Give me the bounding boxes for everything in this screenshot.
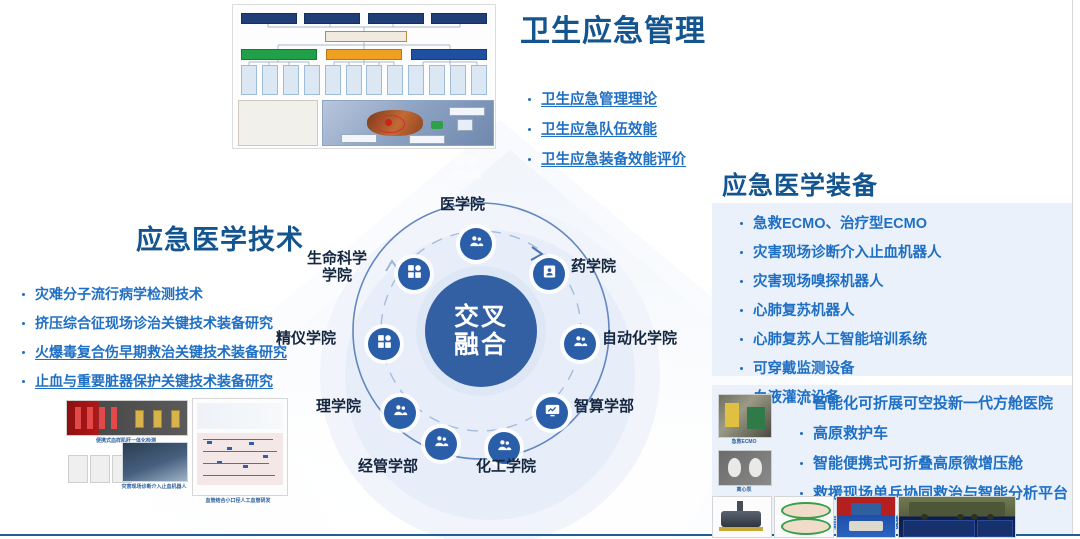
hemostasis-robot-image — [122, 442, 188, 482]
people-icon — [468, 233, 485, 255]
list-item[interactable]: 心肺复苏机器人 — [736, 299, 942, 320]
orgchart-leaf-row — [241, 65, 487, 95]
people-icon — [433, 433, 450, 455]
field-equipment-image — [712, 496, 772, 538]
caption-ecmo: 急救ECMO — [714, 438, 774, 445]
artificial-vessel-figure-image — [192, 398, 288, 496]
list-item[interactable]: 灾害现场诊断介入止血机器人 — [736, 241, 942, 262]
faculty-node-3[interactable] — [564, 328, 596, 360]
faculty-label-8: 精仪学院 — [276, 330, 336, 347]
list-item[interactable]: 智能便携式可折叠高原微增压舱 — [796, 452, 1068, 473]
portable-case-image — [836, 496, 896, 538]
emergency-technology-bullet-list: 灾难分子流行病学检测技术 挤压综合征现场诊治关键技术装备研究 火爆毒复合伤早期救… — [18, 284, 287, 400]
faculty-label-5: 化工学院 — [476, 458, 536, 475]
monitor-icon — [544, 402, 561, 424]
list-item[interactable]: 急救ECMO、治疗型ECMO — [736, 212, 942, 233]
certificate-document-image — [238, 100, 318, 146]
right-edge-divider — [1072, 0, 1073, 534]
faculty-node-6[interactable] — [425, 428, 457, 460]
centrifugal-pump-image — [718, 450, 772, 486]
thumbnail-mini-1 — [68, 455, 88, 483]
list-item[interactable]: 卫生应急装备效能评价 — [524, 148, 686, 169]
cpr-training-manikin-image — [774, 496, 834, 538]
section-title-health-emergency-management: 卫生应急管理 — [520, 6, 706, 50]
mobile-hospital-vehicle-image — [898, 496, 1016, 538]
ecmo-device-image — [718, 394, 772, 438]
people-icon — [392, 402, 409, 424]
section-title-emergency-medical-technology: 应急医学技术 — [136, 218, 304, 257]
list-item[interactable]: 卫生应急管理理论 — [524, 88, 686, 109]
list-item[interactable]: 火爆毒复合伤早期救治关键技术装备研究 — [18, 342, 287, 362]
orgchart-module-row — [241, 49, 487, 60]
faculty-node-1[interactable] — [460, 228, 492, 260]
people-icon — [496, 437, 513, 459]
faculty-node-9[interactable] — [398, 258, 430, 290]
faculty-label-6: 经管学部 — [358, 458, 418, 475]
faculty-label-3: 自动化学院 — [602, 330, 677, 347]
list-item[interactable]: 可穿戴监测设备 — [736, 357, 942, 378]
list-item[interactable]: 心肺复苏人工智能培训系统 — [736, 328, 942, 349]
faculty-label-4: 智算学部 — [574, 398, 634, 415]
health-emergency-bullet-list: 卫生应急管理理论 卫生应急队伍效能 卫生应急装备效能评价 — [524, 88, 686, 178]
list-item[interactable]: 止血与重要脏器保护关键技术装备研究 — [18, 371, 287, 391]
list-item[interactable]: 灾难分子流行病学检测技术 — [18, 284, 287, 304]
faculty-label-1: 医学院 — [440, 196, 485, 213]
faculty-node-8[interactable] — [368, 328, 400, 360]
people-icon — [572, 333, 589, 355]
portable-blood-detection-image — [66, 400, 188, 436]
core-line-1: 交叉 — [454, 303, 508, 331]
core-circle-cross-integration: 交叉 融合 — [425, 275, 537, 387]
faculty-label-9: 生命科学学院 — [307, 250, 367, 285]
caption-artificial-vessel: 血管结合小口径人工血管研发 — [190, 497, 286, 504]
section-title-emergency-medical-equipment: 应急医学装备 — [722, 166, 878, 202]
faculty-node-7[interactable] — [384, 397, 416, 429]
faculty-label-7: 理学院 — [316, 398, 361, 415]
equipment-bullet-list: 急救ECMO、治疗型ECMO 灾害现场诊断介入止血机器人 灾害现场嗅探机器人 心… — [736, 212, 942, 415]
orgchart-top-row — [241, 13, 487, 24]
list-item[interactable]: 卫生应急队伍效能 — [524, 118, 686, 139]
grid-icon — [376, 333, 393, 355]
list-item[interactable]: 挤压综合征现场诊治关键技术装备研究 — [18, 313, 287, 333]
people-watermark-icon — [440, 148, 490, 188]
slide-canvas: 卫生应急管理 应急医学技术 应急医学装备 卫生应急管理理论 卫生应急队伍效能 卫… — [0, 0, 1080, 539]
list-item[interactable]: 灾害现场嗅探机器人 — [736, 270, 942, 291]
faculty-label-2: 药学院 — [571, 258, 616, 275]
caption-hemostasis-robot: 灾害现场诊断介入止血机器人 — [118, 483, 190, 490]
faculty-node-4[interactable] — [536, 397, 568, 429]
list-item[interactable]: 高原救护车 — [796, 422, 1068, 443]
thumbnail-mini-2 — [90, 455, 110, 483]
caption-centrifugal-pump: 离心泵 — [714, 486, 774, 493]
core-line-2: 融合 — [454, 331, 508, 359]
list-item[interactable]: 智能化可折展可空投新一代方舱医院 — [796, 392, 1068, 413]
faculty-node-2[interactable] — [533, 258, 565, 290]
id-card-icon — [541, 263, 558, 285]
orgchart-center-node — [325, 31, 407, 42]
disaster-map-image — [322, 100, 494, 146]
grid-icon — [406, 263, 423, 285]
